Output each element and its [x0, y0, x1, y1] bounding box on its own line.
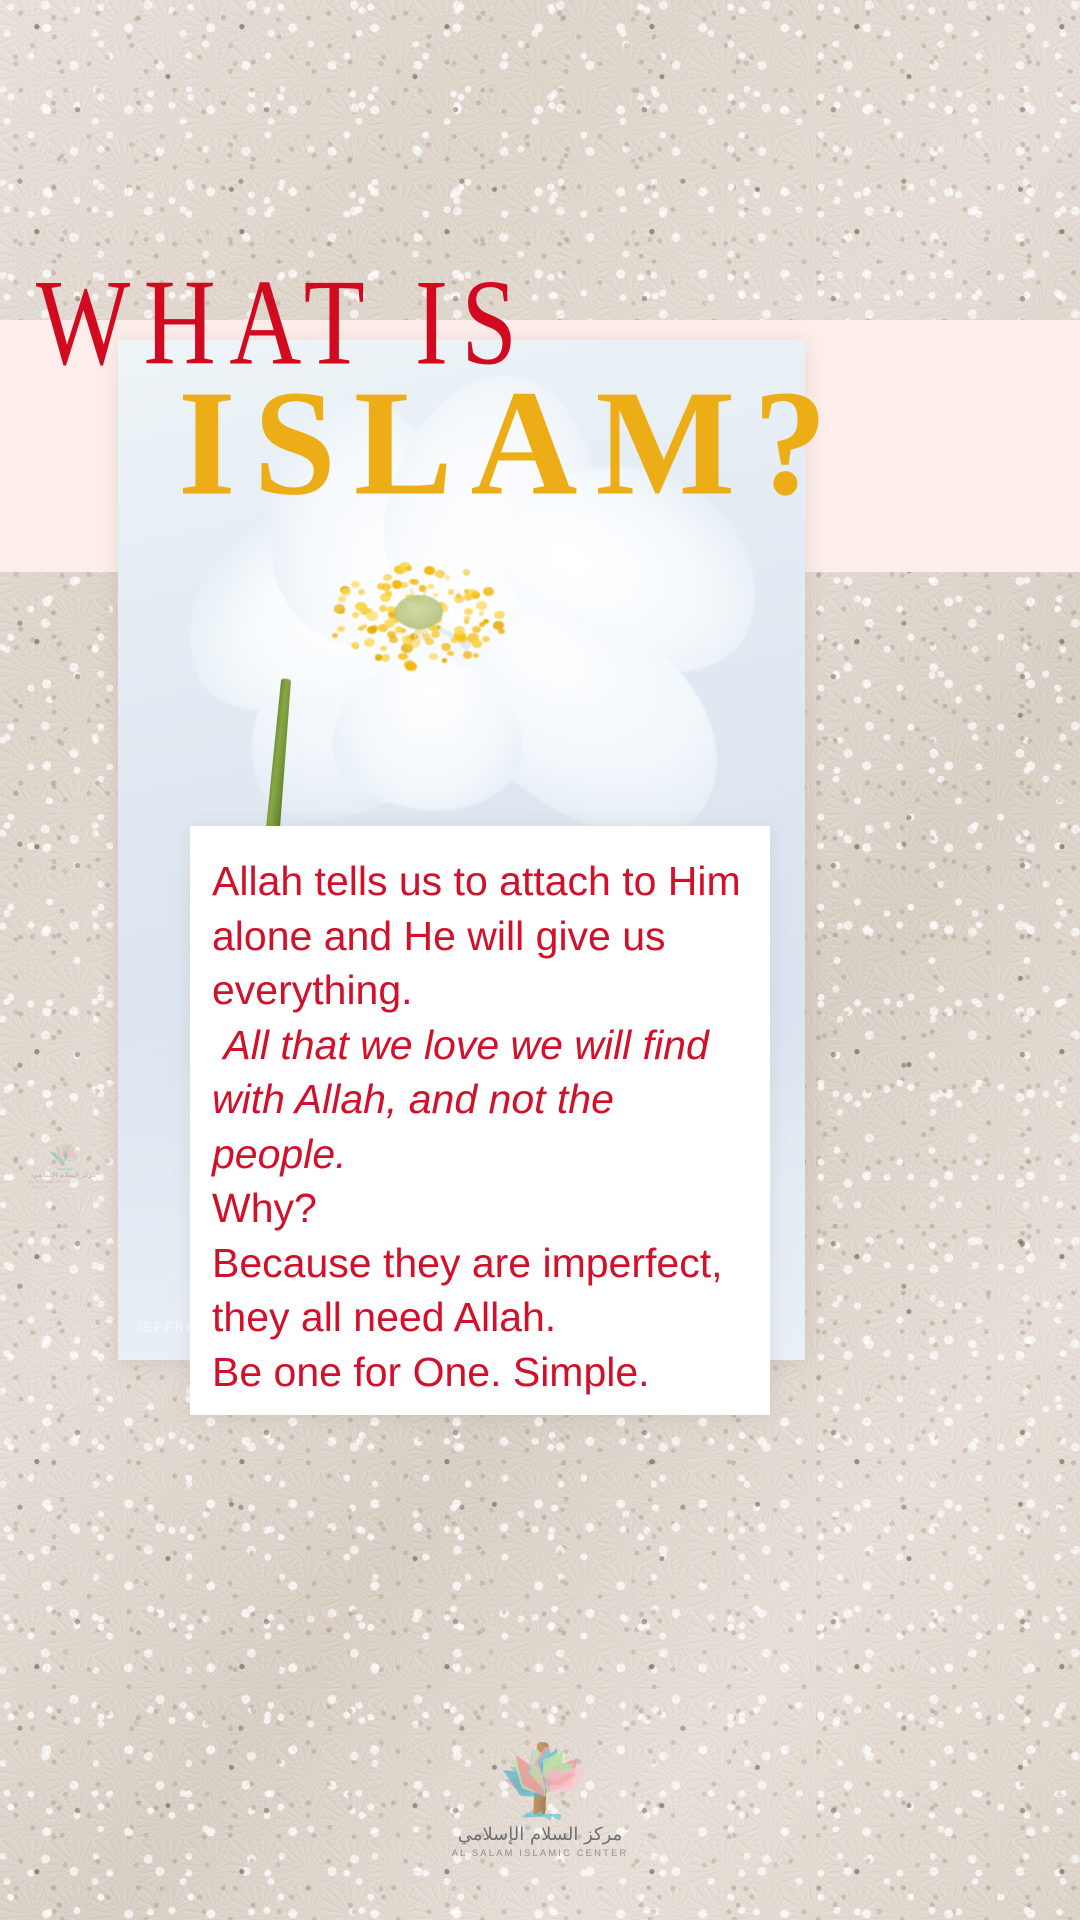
footer-logo: مركز السلام الإسلامي AL SALAM ISLAMIC CE… [0, 1700, 1080, 1859]
flower-stamen [380, 593, 391, 602]
flower-stamen [387, 606, 395, 613]
tree-root-shape [519, 1810, 534, 1821]
watermark-english-name: AL SALAM ISLAMIC CENTER [28, 1179, 100, 1189]
flower-stamen [338, 596, 345, 602]
flower-stamen [463, 651, 472, 659]
flower-stamen [398, 653, 408, 661]
flower-stamen [366, 611, 378, 621]
flower-stamen [406, 566, 412, 571]
flower-stamen [464, 616, 469, 620]
flower-stamen [375, 654, 382, 660]
quote-line: Because they are imperfect, [212, 1236, 752, 1291]
flower-stamen [401, 582, 408, 588]
flower-stamen [454, 595, 464, 603]
flower-stamen [355, 602, 367, 612]
tree-logo-icon [480, 1700, 600, 1818]
flower-stamen [383, 574, 392, 581]
quote-line: Why? [212, 1181, 752, 1236]
flower-stamen [476, 601, 487, 610]
flower-stamen [431, 631, 440, 638]
flower-stamen [424, 566, 435, 575]
flower-stamen [483, 619, 489, 624]
flower-stamen [411, 579, 419, 585]
flower-stamen [389, 636, 398, 643]
quote-line: Allah tells us to attach to Him [212, 854, 752, 909]
quote-text-body: Allah tells us to attach to Himalone and… [212, 854, 752, 1399]
flower-stamen [358, 589, 365, 595]
flower-stamen [433, 593, 438, 597]
flower-stamen [429, 653, 438, 660]
flower-stamen [352, 612, 359, 618]
flower-stamen [473, 653, 479, 658]
flower-stamen [380, 646, 387, 652]
flower-stamen [494, 611, 505, 620]
flower-stamen [395, 626, 403, 632]
flower-stamen [381, 654, 390, 662]
flower-stamen [463, 569, 471, 575]
flower-stamen [358, 626, 364, 631]
flower-stamen [448, 589, 455, 594]
quote-line: everything. [212, 963, 752, 1018]
flower-stamen [464, 608, 473, 616]
quote-line: Be one for One. Simple. [212, 1345, 752, 1400]
flower-stamen [351, 581, 360, 589]
flower-stamen [483, 587, 494, 596]
flower-stamen [435, 570, 445, 578]
watermark-arabic-name: مركز السلام الإسلامي [32, 1171, 96, 1179]
flower-stamen [445, 575, 450, 579]
flower-stamen [405, 662, 417, 671]
quote-line: All that we love we will find [212, 1018, 752, 1073]
flower-pistil [395, 595, 443, 629]
flower-stamen [447, 651, 454, 657]
flower-stamen [407, 645, 413, 650]
flower-stamen-cluster [323, 555, 518, 680]
flower-stamen [382, 583, 392, 591]
flower-stamen [337, 626, 345, 633]
quote-line: alone and He will give us [212, 909, 752, 964]
flower-stamen [379, 605, 387, 611]
flower-stamen [427, 584, 434, 590]
flower-stamen [479, 611, 484, 615]
flower-stamen [341, 588, 351, 597]
flower-stamen [367, 626, 377, 634]
flower-stamen [334, 604, 346, 614]
page-title-line-2: ISLAM? [178, 368, 845, 519]
flower-stamen [332, 633, 338, 638]
flower-stamen [384, 619, 395, 628]
flower-stamen [464, 620, 469, 624]
flower-stamen [472, 640, 483, 649]
flower-stamen [493, 621, 503, 629]
flower-stamen [351, 642, 358, 648]
flower-stamen [392, 580, 402, 588]
quote-line: they all need Allah. [212, 1290, 752, 1345]
flower-stamen [441, 643, 451, 651]
quote-line: with Allah, and not the people. [212, 1072, 752, 1181]
flower-stamen [442, 658, 447, 662]
left-watermark-logo: مركز السلام الإسلامي AL SALAM ISLAMIC CE… [28, 1125, 100, 1189]
flower-stamen [364, 638, 375, 647]
flower-stamen [431, 626, 438, 632]
quote-text-card: Allah tells us to attach to Himalone and… [190, 826, 770, 1415]
logo-arabic-name: مركز السلام الإسلامي [458, 1824, 622, 1845]
tree-logo-icon-small [42, 1125, 86, 1169]
logo-english-name: AL SALAM ISLAMIC CENTER [452, 1848, 629, 1859]
flower-stamen [482, 636, 490, 642]
